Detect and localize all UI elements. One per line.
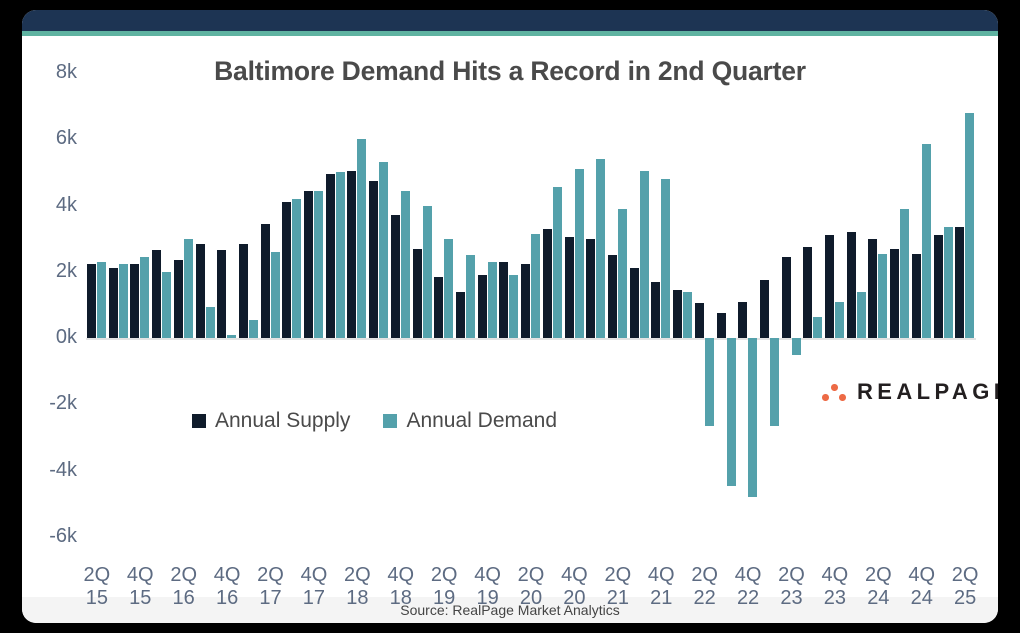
plot-area: 8k6k4k2k0k-2k-4k-6k — [86, 73, 976, 570]
bar-supply[interactable] — [261, 224, 270, 338]
bar-demand[interactable] — [770, 338, 779, 426]
bar-series-container — [86, 73, 976, 570]
legend-swatch-demand — [383, 414, 397, 428]
logo-wordmark: REALPAGE — [857, 379, 998, 405]
bar-supply[interactable] — [760, 280, 769, 338]
legend-item-annual-demand[interactable]: Annual Demand — [383, 409, 557, 433]
realpage-logo: REALPAGE ™ — [822, 379, 998, 405]
bar-supply[interactable] — [630, 268, 639, 338]
x-axis-labels: 2Q154Q152Q164Q162Q174Q172Q184Q182Q194Q19… — [86, 564, 976, 623]
x-tick-label: 4Q19 — [466, 564, 510, 610]
bar-group[interactable] — [520, 73, 542, 570]
bar-group[interactable] — [694, 73, 716, 570]
bar-supply[interactable] — [955, 227, 964, 338]
bar-supply[interactable] — [651, 282, 660, 338]
card-header-bar — [22, 10, 998, 31]
bar-demand[interactable] — [466, 255, 475, 338]
bar-supply[interactable] — [847, 232, 856, 338]
bar-supply[interactable] — [782, 257, 791, 338]
bar-demand[interactable] — [423, 206, 432, 339]
bar-group[interactable] — [542, 73, 564, 570]
bar-demand[interactable] — [596, 159, 605, 338]
bar-group[interactable] — [781, 73, 803, 570]
bar-demand[interactable] — [944, 227, 953, 338]
chart-body: Baltimore Demand Hits a Record in 2nd Qu… — [22, 36, 998, 597]
bar-group[interactable] — [737, 73, 759, 570]
bar-group[interactable] — [412, 73, 434, 570]
bar-group[interactable] — [889, 73, 911, 570]
bar-demand[interactable] — [878, 254, 887, 338]
bar-demand[interactable] — [857, 292, 866, 338]
x-tick-label: 2Q23 — [769, 564, 813, 610]
bar-supply[interactable] — [478, 275, 487, 338]
legend-item-annual-supply[interactable]: Annual Supply — [192, 409, 350, 433]
bar-demand[interactable] — [965, 113, 974, 338]
bar-demand[interactable] — [553, 187, 562, 338]
bar-supply[interactable] — [217, 250, 226, 338]
y-tick-label: 4k — [56, 194, 77, 217]
bar-group[interactable] — [238, 73, 260, 570]
bar-demand[interactable] — [271, 252, 280, 338]
bar-demand[interactable] — [748, 338, 757, 497]
bar-supply[interactable] — [304, 191, 313, 338]
bar-group[interactable] — [325, 73, 347, 570]
bar-supply[interactable] — [499, 262, 508, 338]
bar-supply[interactable] — [347, 171, 356, 338]
bar-demand[interactable] — [401, 191, 410, 338]
bar-group[interactable] — [433, 73, 455, 570]
bar-supply[interactable] — [934, 235, 943, 338]
x-tick-label: 2Q22 — [683, 564, 727, 610]
bar-group[interactable] — [672, 73, 694, 570]
bar-demand[interactable] — [792, 338, 801, 355]
bar-demand[interactable] — [249, 320, 258, 338]
bar-supply[interactable] — [413, 249, 422, 338]
bar-supply[interactable] — [130, 264, 139, 339]
bar-supply[interactable] — [586, 239, 595, 338]
x-tick-label: 2Q16 — [162, 564, 206, 610]
legend-swatch-supply — [192, 414, 206, 428]
bar-demand[interactable] — [661, 179, 670, 338]
bar-group[interactable] — [346, 73, 368, 570]
bar-demand[interactable] — [531, 234, 540, 338]
bar-supply[interactable] — [565, 237, 574, 338]
y-tick-label: -6k — [49, 525, 77, 548]
bar-supply[interactable] — [174, 260, 183, 338]
bar-supply[interactable] — [717, 313, 726, 338]
bar-group[interactable] — [195, 73, 217, 570]
bar-demand[interactable] — [336, 172, 345, 338]
bar-group[interactable] — [477, 73, 499, 570]
bar-group[interactable] — [260, 73, 282, 570]
logo-dots-icon — [822, 382, 848, 402]
bar-demand[interactable] — [444, 239, 453, 338]
bar-group[interactable] — [108, 73, 130, 570]
bar-demand[interactable] — [488, 262, 497, 338]
x-tick-label: 4Q21 — [639, 564, 683, 610]
y-tick-label: 6k — [56, 127, 77, 150]
y-tick-label: -4k — [49, 459, 77, 482]
bar-group[interactable] — [716, 73, 738, 570]
legend-label-supply: Annual Supply — [215, 409, 350, 433]
bar-demand[interactable] — [640, 171, 649, 338]
bar-demand[interactable] — [314, 191, 323, 338]
bar-demand[interactable] — [227, 335, 236, 338]
bar-group[interactable] — [629, 73, 651, 570]
bar-demand[interactable] — [683, 292, 692, 338]
bar-demand[interactable] — [292, 199, 301, 338]
x-tick-label: 4Q17 — [292, 564, 336, 610]
bar-supply[interactable] — [890, 249, 899, 338]
bar-supply[interactable] — [825, 235, 834, 338]
bar-demand[interactable] — [705, 338, 714, 426]
bar-supply[interactable] — [434, 277, 443, 338]
bar-group[interactable] — [824, 73, 846, 570]
bar-group[interactable] — [607, 73, 629, 570]
x-tick-label: 4Q15 — [118, 564, 162, 610]
bar-demand[interactable] — [835, 302, 844, 338]
bar-group[interactable] — [390, 73, 412, 570]
bar-supply[interactable] — [695, 303, 704, 338]
x-tick-label: 2Q25 — [943, 564, 987, 610]
bar-supply[interactable] — [109, 268, 118, 338]
bar-demand[interactable] — [379, 162, 388, 338]
bar-supply[interactable] — [326, 174, 335, 338]
bar-demand[interactable] — [922, 144, 931, 338]
bar-supply[interactable] — [868, 239, 877, 338]
bar-group[interactable] — [86, 73, 108, 570]
bar-group[interactable] — [173, 73, 195, 570]
y-tick-label: 0k — [56, 326, 77, 349]
bar-demand[interactable] — [900, 209, 909, 338]
x-tick-label: 2Q18 — [335, 564, 379, 610]
chart-card: Baltimore Demand Hits a Record in 2nd Qu… — [22, 10, 998, 623]
bar-demand[interactable] — [97, 262, 106, 338]
bar-supply[interactable] — [608, 255, 617, 338]
bar-group[interactable] — [802, 73, 824, 570]
bar-group[interactable] — [954, 73, 976, 570]
x-tick-label: 4Q22 — [726, 564, 770, 610]
bar-group[interactable] — [846, 73, 868, 570]
bar-group[interactable] — [151, 73, 173, 570]
bar-supply[interactable] — [152, 250, 161, 338]
bar-group[interactable] — [498, 73, 520, 570]
bar-demand[interactable] — [618, 209, 627, 338]
bar-supply[interactable] — [87, 264, 96, 339]
bar-group[interactable] — [303, 73, 325, 570]
bar-group[interactable] — [585, 73, 607, 570]
bar-group[interactable] — [455, 73, 477, 570]
bar-supply[interactable] — [543, 229, 552, 338]
bar-demand[interactable] — [206, 307, 215, 338]
y-tick-label: 2k — [56, 260, 77, 283]
bar-group[interactable] — [911, 73, 933, 570]
bar-demand[interactable] — [140, 257, 149, 338]
bar-supply[interactable] — [391, 215, 400, 338]
x-tick-label: 4Q16 — [205, 564, 249, 610]
x-tick-label: 4Q20 — [552, 564, 596, 610]
bar-demand[interactable] — [727, 338, 736, 485]
bar-group[interactable] — [216, 73, 238, 570]
x-tick-label: 2Q15 — [75, 564, 119, 610]
x-tick-label: 2Q20 — [509, 564, 553, 610]
bar-supply[interactable] — [196, 244, 205, 338]
x-tick-label: 4Q24 — [900, 564, 944, 610]
y-tick-label: 8k — [56, 61, 77, 84]
bar-group[interactable] — [564, 73, 586, 570]
bar-supply[interactable] — [521, 264, 530, 339]
bar-supply[interactable] — [912, 254, 921, 338]
x-tick-label: 2Q24 — [856, 564, 900, 610]
bar-demand[interactable] — [357, 139, 366, 338]
bar-demand[interactable] — [509, 275, 518, 338]
bar-demand[interactable] — [575, 169, 584, 338]
bar-supply[interactable] — [456, 292, 465, 338]
x-tick-label: 2Q19 — [422, 564, 466, 610]
bar-group[interactable] — [933, 73, 955, 570]
bar-group[interactable] — [867, 73, 889, 570]
bar-demand[interactable] — [162, 272, 171, 338]
bar-group[interactable] — [368, 73, 390, 570]
bar-supply[interactable] — [738, 302, 747, 338]
bar-group[interactable] — [281, 73, 303, 570]
bar-supply[interactable] — [673, 290, 682, 338]
y-tick-label: -2k — [49, 392, 77, 415]
bar-demand[interactable] — [184, 239, 193, 338]
bar-supply[interactable] — [369, 181, 378, 338]
x-tick-label: 2Q21 — [596, 564, 640, 610]
chart-legend: Annual Supply Annual Demand — [192, 409, 557, 433]
bar-demand[interactable] — [119, 264, 128, 339]
bar-demand[interactable] — [813, 317, 822, 339]
bar-supply[interactable] — [282, 202, 291, 338]
bar-group[interactable] — [650, 73, 672, 570]
x-tick-label: 4Q23 — [813, 564, 857, 610]
bar-supply[interactable] — [239, 244, 248, 338]
x-tick-label: 4Q18 — [379, 564, 423, 610]
bar-supply[interactable] — [803, 247, 812, 338]
legend-label-demand: Annual Demand — [406, 409, 557, 433]
bar-group[interactable] — [759, 73, 781, 570]
bar-group[interactable] — [129, 73, 151, 570]
x-tick-label: 2Q17 — [249, 564, 293, 610]
